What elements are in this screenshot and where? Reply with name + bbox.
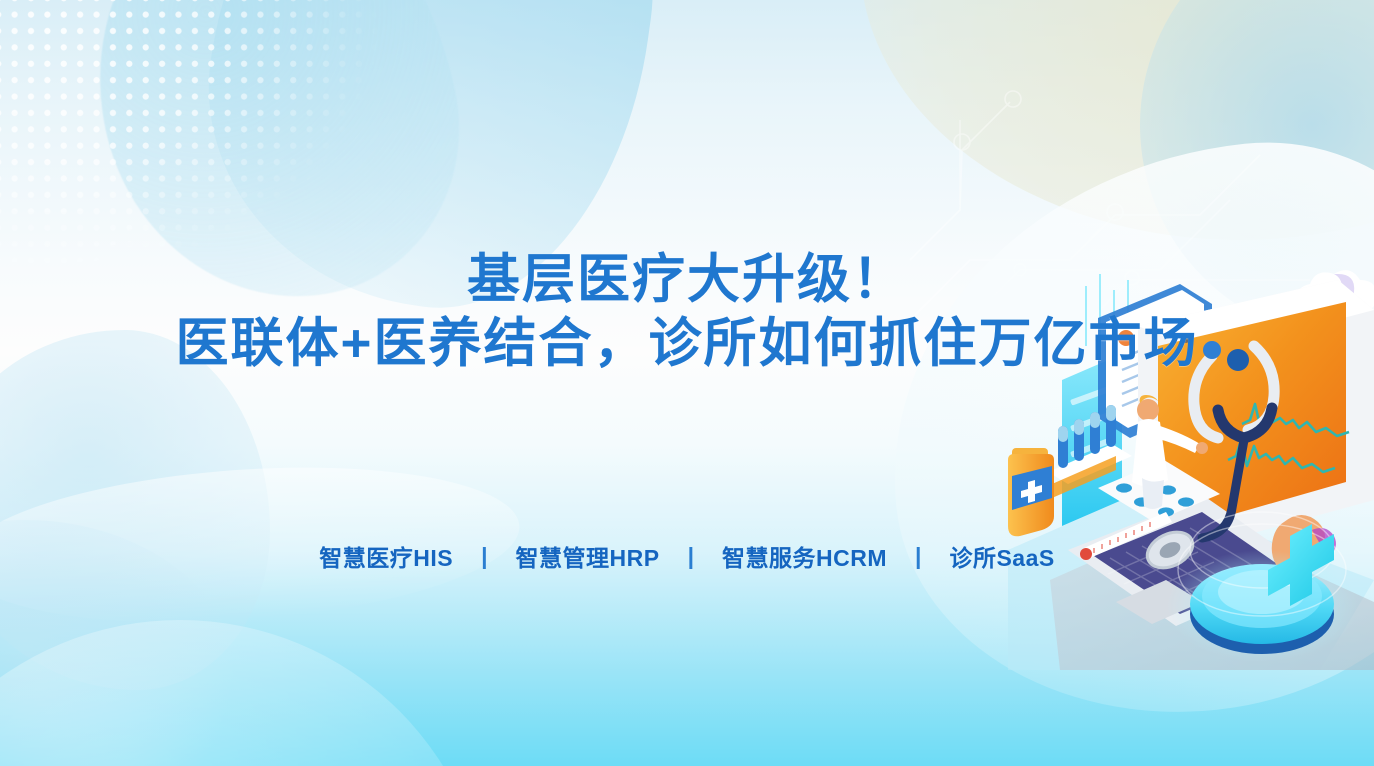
bottom-left-circle <box>0 620 490 766</box>
headline-line-1: 基层医疗大升级！ <box>0 248 1374 312</box>
tagline-separator-3: | <box>889 543 947 570</box>
banner-stage: 基层医疗大升级！ 医联体+医养结合，诊所如何抓住万亿市场 智慧医疗HIS | 智… <box>0 0 1374 766</box>
medicine-bottle <box>1008 448 1054 536</box>
tagline-item-hrp: 智慧管理HRP <box>514 539 662 573</box>
tagline-row: 智慧医疗HIS | 智慧管理HRP | 智慧服务HCRM | 诊所SaaS <box>0 539 1374 573</box>
tagline-item-saas: 诊所SaaS <box>947 539 1056 573</box>
headline-block: 基层医疗大升级！ 医联体+医养结合，诊所如何抓住万亿市场 <box>0 248 1374 376</box>
tagline-separator-2: | <box>662 543 720 570</box>
tagline-item-hcrm: 智慧服务HCRM <box>720 539 889 573</box>
mid-left-blob <box>0 330 270 690</box>
headline-line-2: 医联体+医养结合，诊所如何抓住万亿市场 <box>0 312 1374 376</box>
tagline-item-his: 智慧医疗HIS <box>317 539 455 573</box>
tagline-separator-1: | <box>455 543 513 570</box>
cream-blob <box>860 0 1374 240</box>
